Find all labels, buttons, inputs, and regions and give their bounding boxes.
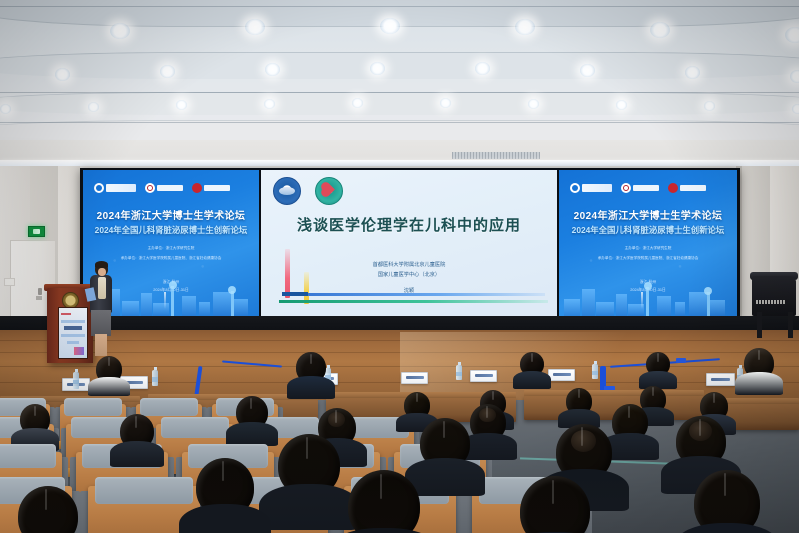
ceiling-downlight [264,99,275,109]
hospital-logo-mark [621,183,631,193]
shoulders [259,484,358,531]
name-placard [401,372,428,384]
hair-part [306,437,308,459]
audience-member [348,470,420,533]
hospital-logo-icon [621,183,659,193]
hair-part [310,354,312,365]
hair-part [486,406,488,419]
audience-member [236,396,268,433]
ceiling-downlight [790,70,799,83]
piano-leg [757,312,762,338]
seat-headrest [161,417,230,438]
lectern-display-line [61,334,85,337]
audience-member [18,486,78,533]
banner-cohost-line: 承办单位：浙江大学医学院附属儿童医院、浙江省妇幼健康协会 [94,256,249,261]
lecture-hall-photo: 2024年浙江大学博士生学术论坛 2024年全国儿科肾脏泌尿博士生创新论坛 主办… [0,0,799,533]
audience-member [296,352,326,387]
audience-member [520,476,590,533]
slide-accent-block-blue [282,292,308,296]
piano [752,276,796,316]
zju-logo-wordmark [582,184,612,192]
hospital-logo-icon [145,183,183,193]
zju-logo-wordmark [106,184,136,192]
name-placard [548,369,575,381]
ceiling-downlight [650,22,670,38]
ceiling-downlight [55,68,70,81]
hair-bun [689,421,712,441]
hair-part [552,480,554,505]
banner-host-line: 主办单位：浙江大学研究生院 [570,246,727,251]
shoulders [513,371,551,389]
audience-member [612,404,648,445]
audience-member [120,414,154,453]
hospital-logo-mark [145,183,155,193]
ceiling-band [0,92,799,115]
door-plate [36,296,42,300]
ceiling-downlight [580,64,595,77]
banner-host-line: 主办单位：浙江大学研究生院 [94,246,249,251]
hair-part [657,353,659,361]
association-logo-wordmark [680,185,706,191]
slide-org-line2: 国家儿童医学中心（北京） [291,271,528,278]
air-vent-icon [452,152,540,159]
hair-part [578,389,580,398]
hair-part [335,410,337,423]
name-placard [470,370,497,382]
cable-box [676,358,686,363]
lectern-display-line [67,341,79,344]
audience-member [646,352,670,380]
banner-title-sub: 2024年全国儿科肾脏泌尿博士生创新论坛 [87,224,256,236]
ceiling-downlight [440,98,451,108]
led-panel-right: 2024年浙江大学博士生学术论坛 2024年全国儿科肾脏泌尿博士生创新论坛 主办… [559,170,737,316]
lectern-display-accent [61,313,71,315]
hair-part [758,350,760,361]
name-placard [706,373,735,386]
hospital-logo-wordmark [633,185,659,191]
piano-leg [788,312,793,338]
seat-headrest [0,444,56,468]
banner-logo-row [94,177,249,199]
water-bottle [592,364,598,379]
ceiling-downlight [265,63,280,76]
hair-part [108,357,110,366]
seat-headrest [95,477,194,504]
head [18,486,78,533]
banner-cohost-line: 承办单位：浙江大学医学院附属儿童医院、浙江省妇幼健康协会 [570,256,727,261]
lectern-display-line [61,320,85,323]
audience-member [520,352,544,380]
banner-title-sub: 2024年全国儿科肾脏泌尿博士生创新论坛 [563,224,734,236]
ceiling-downlight [370,62,385,75]
hospital-logo-wordmark [157,185,183,191]
head [348,470,420,533]
lectern-display-line [64,326,82,330]
ceiling-seam [0,122,799,123]
audience-member [20,404,50,439]
water-bottle [73,372,79,389]
shoulders [287,376,335,399]
association-logo-wordmark [204,185,230,191]
association-logo-mark [668,183,678,193]
heart-icon [322,183,335,196]
ceiling-downlight [176,100,187,110]
audience-member [420,418,470,476]
hair-part [724,473,726,496]
hair-part [135,416,137,428]
association-logo-icon [668,183,706,193]
hair-part [416,393,418,402]
association-logo-mark [192,183,202,193]
slide-org-line1: 首都医科大学附属北京儿童医院 [291,261,528,268]
shoulders [88,377,130,397]
shoulders [226,422,277,446]
ceiling-downlight [616,100,627,110]
hair-part [581,427,583,447]
exit-sign-icon [28,226,45,237]
ceiling-downlight [685,66,700,79]
speaker-skirt [91,310,111,336]
zju-logo-mark [94,183,104,193]
water-bottle [152,370,158,386]
head [520,476,590,533]
ceiling-band [0,52,799,79]
ceiling-downlight [528,99,539,109]
hair-part [45,489,47,510]
audience-member [196,458,254,525]
national-childrens-center-logo-icon [273,177,301,205]
shoulders [110,441,164,467]
hair-part [699,419,701,437]
beijing-childrens-hospital-logo-icon [315,177,343,205]
door-handle-icon[interactable] [38,288,42,295]
hair-part [652,387,654,396]
slide-logo-row [273,177,343,205]
audience-member [96,356,122,386]
hair-part [713,393,715,403]
hair-part [531,353,533,361]
ceiling-band [0,0,799,26]
lectern-display [58,307,88,359]
speaker-legs [95,334,107,356]
ceiling-seam [0,92,799,93]
banner-logo-row [570,177,727,199]
light-switch[interactable] [4,278,15,286]
zju-logo-icon [94,183,136,193]
ceiling-downlight [515,19,535,35]
slide-accent-line-green [279,300,548,303]
hair-part [222,461,224,481]
audience-member [694,470,760,533]
ceiling-band [0,120,799,141]
speaker-face [98,268,106,276]
seat-headrest [64,398,122,416]
led-screen-wall: 2024年浙江大学博士生学术论坛 2024年全国儿科肾脏泌尿博士生创新论坛 主办… [80,168,740,318]
association-logo-icon [192,183,230,193]
audience-member [676,416,726,474]
zju-logo-mark [570,183,580,193]
audience-member [278,434,340,505]
led-panel-center: 浅谈医学伦理学在儿科中的应用 首都医科大学附属北京儿童医院 国家儿童医学中心（北… [261,170,557,316]
ceiling-downlight [160,65,175,78]
shoulders [179,504,272,533]
hair-part [628,406,630,419]
audience-member [744,348,774,383]
ceiling-downlight [0,104,11,114]
ceiling-downlight [380,18,400,34]
shoulders [735,372,783,395]
banner-title-main: 2024年浙江大学博士生学术论坛 [90,207,252,222]
hair-part [492,391,494,400]
ceiling-seam [0,6,799,7]
lectern-display-logo-icon [74,347,84,355]
zju-logo-icon [570,183,612,193]
globe-icon [279,187,295,195]
banner-skyline-graphic [559,278,737,316]
water-bottle [456,365,462,380]
presentation-slide: 浅谈医学伦理学在儿科中的应用 首都医科大学附属北京儿童医院 国家儿童医学中心（北… [261,170,557,316]
banner-title-main: 2024年浙江大学博士生学术论坛 [566,207,730,222]
ceiling-downlight [792,104,799,114]
speaker-shirt [98,277,106,299]
hair-part [443,421,445,439]
hair-bun [571,430,597,452]
speaker-hair [95,261,108,268]
piano-keys [756,300,786,304]
slide-accent-line-blue [282,293,545,296]
hair-part [34,406,36,417]
audience-member [566,388,592,418]
forum-banner-right: 2024年浙江大学博士生学术论坛 2024年全国儿科肾脏泌尿博士生创新论坛 主办… [559,170,737,316]
slide-title: 浅谈医学伦理学在儿科中的应用 [273,214,545,235]
audience-member [470,404,506,445]
ceiling-downlight [88,102,99,112]
